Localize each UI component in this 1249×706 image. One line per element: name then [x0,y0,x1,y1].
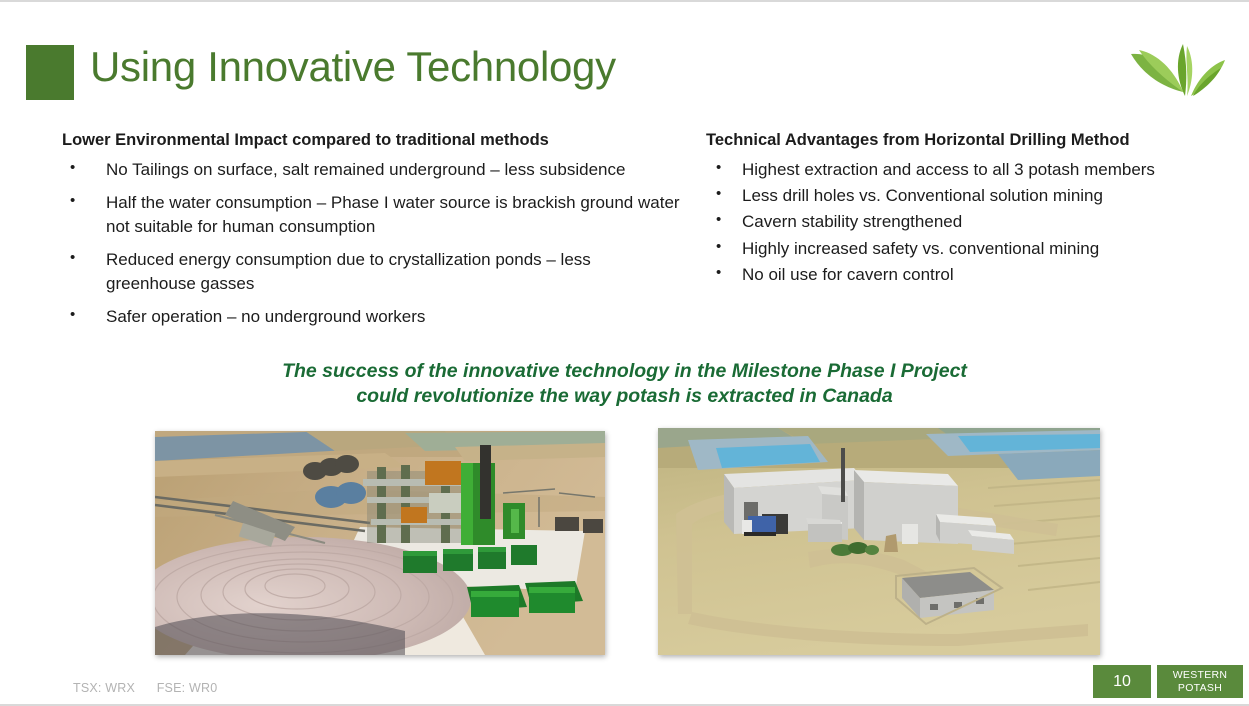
right-bullet-list: Highest extraction and access to all 3 p… [706,158,1176,287]
processing-plant-render [155,431,605,655]
tagline-line-1: The success of the innovative technology… [0,359,1249,384]
ticker-fse: FSE: WR0 [157,681,218,695]
list-item: Highest extraction and access to all 3 p… [706,158,1176,182]
list-item: Reduced energy consumption due to crysta… [62,248,682,296]
page-number-badge: 10 [1093,665,1151,698]
list-item: Cavern stability strengthened [706,210,1176,234]
left-bullet-list: No Tailings on surface, salt remained un… [62,158,682,330]
brand-line-1: WESTERN [1173,669,1228,681]
list-item: No oil use for cavern control [706,263,1176,287]
list-item: No Tailings on surface, salt remained un… [62,158,682,182]
page-title: Using Innovative Technology [90,43,616,91]
brand-logo-badge: WESTERN POTASH [1157,665,1243,698]
leaf-logo-icon [1127,38,1231,102]
facility-aerial-render [658,428,1100,655]
slide-header: Using Innovative Technology [0,2,1249,117]
left-content-column: Lower Environmental Impact compared to t… [62,130,682,339]
presentation-slide: Using Innovative Technology Lower Enviro… [0,0,1249,706]
ticker-tsx: TSX: WRX [73,681,135,695]
list-item: Less drill holes vs. Conventional soluti… [706,184,1176,208]
tagline-line-2: could revolutionize the way potash is ex… [0,384,1249,409]
left-column-heading: Lower Environmental Impact compared to t… [62,130,682,152]
list-item: Half the water consumption – Phase I wat… [62,191,682,239]
list-item: Safer operation – no underground workers [62,305,682,329]
title-accent-square [26,45,74,100]
list-item: Highly increased safety vs. conventional… [706,237,1176,261]
right-content-column: Technical Advantages from Horizontal Dri… [706,130,1176,289]
right-column-heading: Technical Advantages from Horizontal Dri… [706,130,1176,152]
footer-tickers: TSX: WRX FSE: WR0 [73,681,235,695]
highlight-tagline: The success of the innovative technology… [0,359,1249,409]
brand-line-2: POTASH [1178,682,1222,694]
